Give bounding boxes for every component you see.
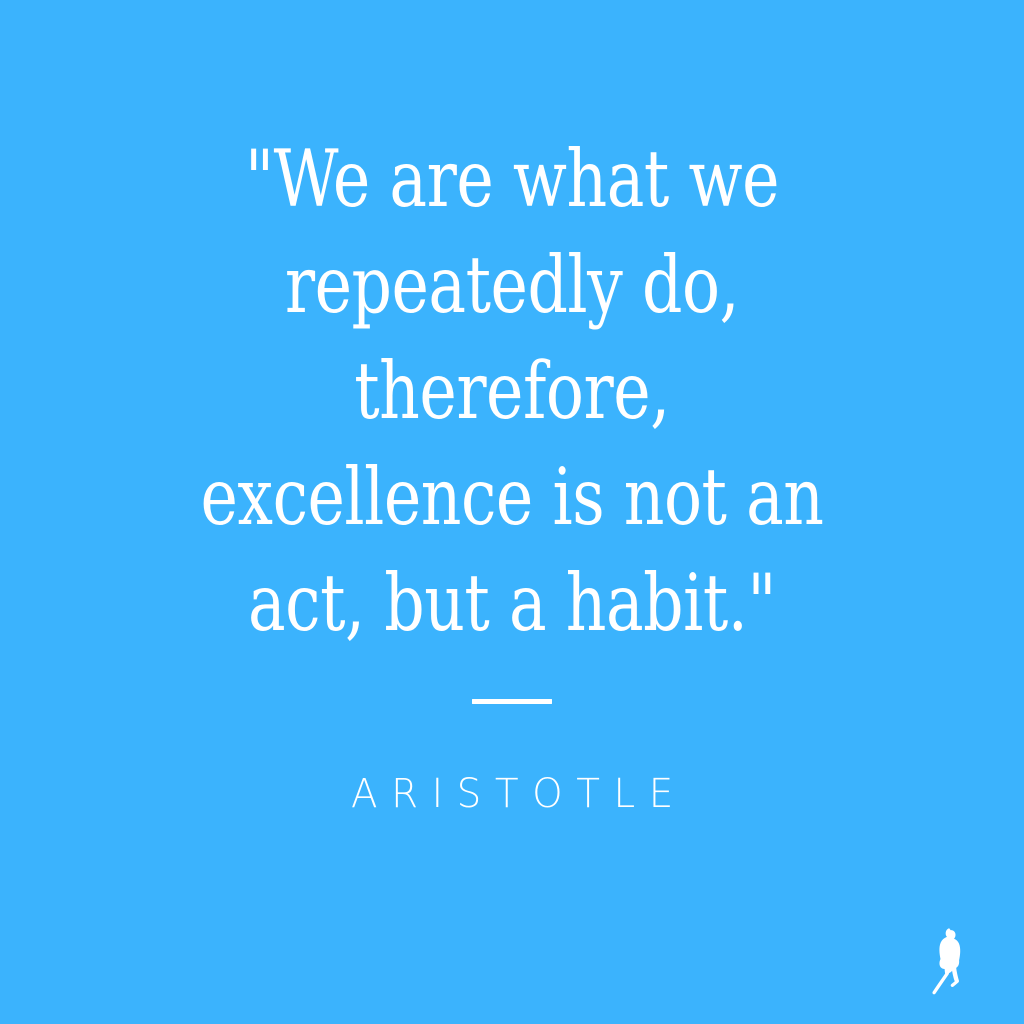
quote-line-3: therefore, xyxy=(102,338,921,444)
quote-line-2: repeatedly do, xyxy=(102,232,921,338)
quote-line-1: "We are what we xyxy=(102,126,921,232)
quote-line-4: excellence is not an xyxy=(102,444,921,550)
walking-person-silhouette-icon xyxy=(924,924,980,996)
quote-text-block: "We are what we repeatedly do, therefore… xyxy=(0,0,1024,656)
quote-line-5: act, but a habit." xyxy=(102,550,921,656)
attribution-author-name: ARISTOTLE xyxy=(337,772,686,816)
divider-rule xyxy=(472,699,552,704)
attribution-container: ARISTOTLE xyxy=(0,772,1024,816)
divider-container xyxy=(0,699,1024,704)
quote-card: "We are what we repeatedly do, therefore… xyxy=(0,0,1024,1024)
